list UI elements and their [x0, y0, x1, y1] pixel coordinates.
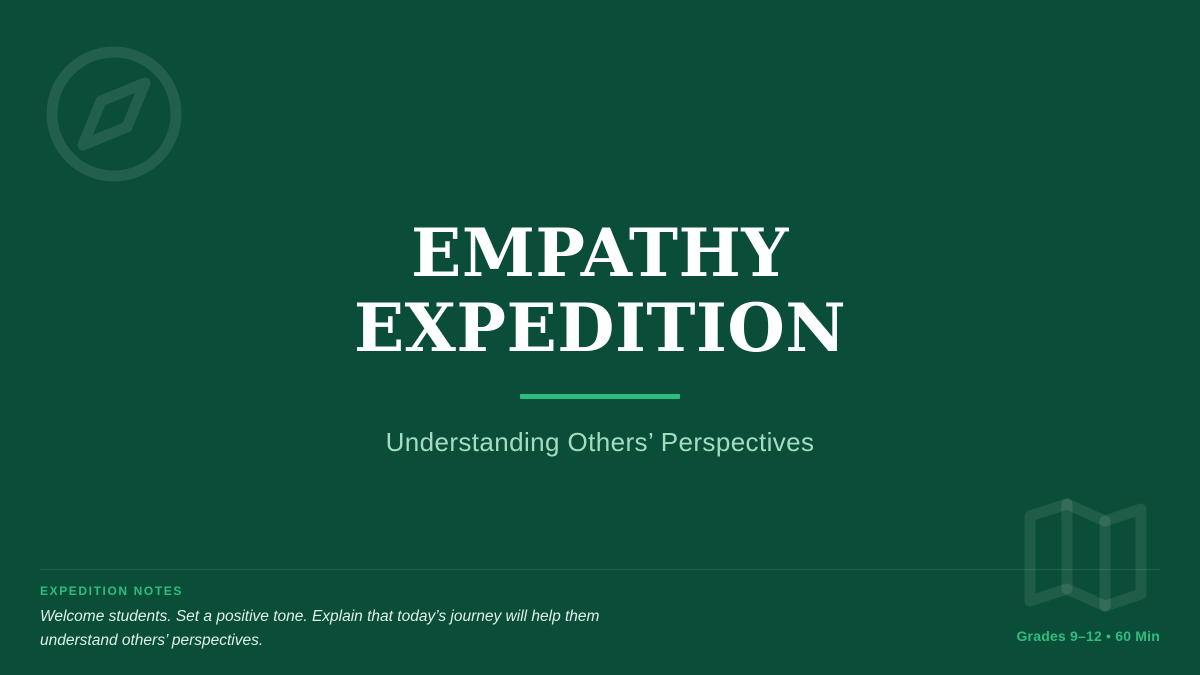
page-title: EMPATHY EXPEDITION: [0, 216, 1200, 366]
grade-duration-meta: Grades 9–12 • 60 Min: [1016, 628, 1160, 644]
page-title-line-1: EMPATHY: [0, 216, 1200, 291]
page-title-line-2: EXPEDITION: [0, 291, 1200, 366]
expedition-notes-label: EXPEDITION NOTES: [40, 584, 680, 598]
page-subtitle: Understanding Others’ Perspectives: [0, 427, 1200, 458]
title-slide: EMPATHY EXPEDITION Understanding Others’…: [0, 0, 1200, 675]
expedition-notes-body: Welcome students. Set a positive tone. E…: [40, 605, 600, 653]
footer-divider: [40, 569, 1160, 570]
folded-map-icon: [1020, 490, 1150, 620]
expedition-notes: EXPEDITION NOTES Welcome students. Set a…: [40, 584, 680, 653]
accent-rule: [520, 394, 680, 399]
title-block: EMPATHY EXPEDITION Understanding Others’…: [0, 216, 1200, 458]
compass-icon: [42, 42, 186, 186]
